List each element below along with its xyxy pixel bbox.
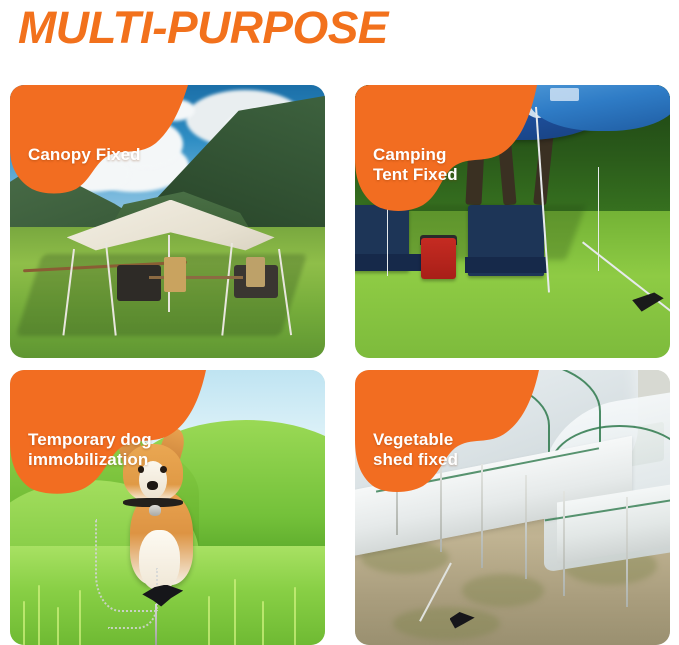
wooden-chair bbox=[164, 257, 186, 292]
page-title: MULTI-PURPOSE bbox=[18, 2, 388, 54]
grass-blade bbox=[294, 587, 296, 645]
grass-patch bbox=[393, 607, 500, 640]
support-leg bbox=[626, 497, 628, 607]
wooden-chair bbox=[246, 257, 265, 287]
panel-camping-tent-fixed[interactable]: Camping Tent Fixed bbox=[355, 85, 670, 358]
panel-vegetable-shed-fixed[interactable]: Vegetable shed fixed bbox=[355, 370, 670, 645]
panel-label-temporary-dog-immobilization: Temporary dog immobilization bbox=[10, 370, 174, 490]
panel-label-canopy-fixed: Canopy Fixed bbox=[10, 85, 163, 185]
grass-blade bbox=[57, 607, 59, 645]
panel-label-camping-tent-fixed: Camping Tent Fixed bbox=[355, 85, 480, 205]
grass-blade bbox=[262, 601, 264, 645]
label-blob-shape bbox=[10, 85, 188, 195]
panel-label-vegetable-shed-fixed: Vegetable shed fixed bbox=[355, 370, 480, 490]
canopy-logo-patch bbox=[550, 88, 578, 102]
panel-label-text: Canopy Fixed bbox=[28, 145, 141, 165]
support-leg bbox=[563, 491, 565, 596]
adirondack-chair-seat bbox=[465, 257, 547, 273]
panel-label-text: Camping Tent Fixed bbox=[373, 145, 458, 185]
picnic-table bbox=[149, 276, 244, 279]
panel-grid: Canopy Fixed bbox=[10, 85, 670, 645]
stake-rod bbox=[155, 604, 157, 645]
panel-label-text: Temporary dog immobilization bbox=[28, 430, 152, 470]
panel-label-text: Vegetable shed fixed bbox=[373, 430, 458, 470]
leash-clip bbox=[149, 505, 162, 517]
panel-canopy-fixed[interactable]: Canopy Fixed bbox=[10, 85, 325, 358]
infographic-page: MULTI-PURPOSE bbox=[0, 0, 679, 645]
grass-blade bbox=[234, 579, 236, 645]
grass-patch bbox=[462, 574, 544, 607]
panel-temporary-dog-immobilization[interactable]: Temporary dog immobilization bbox=[10, 370, 325, 645]
grass-blade bbox=[79, 590, 81, 645]
red-cooler bbox=[421, 238, 456, 279]
furniture-crate bbox=[117, 265, 161, 300]
grass-blade bbox=[23, 601, 25, 645]
